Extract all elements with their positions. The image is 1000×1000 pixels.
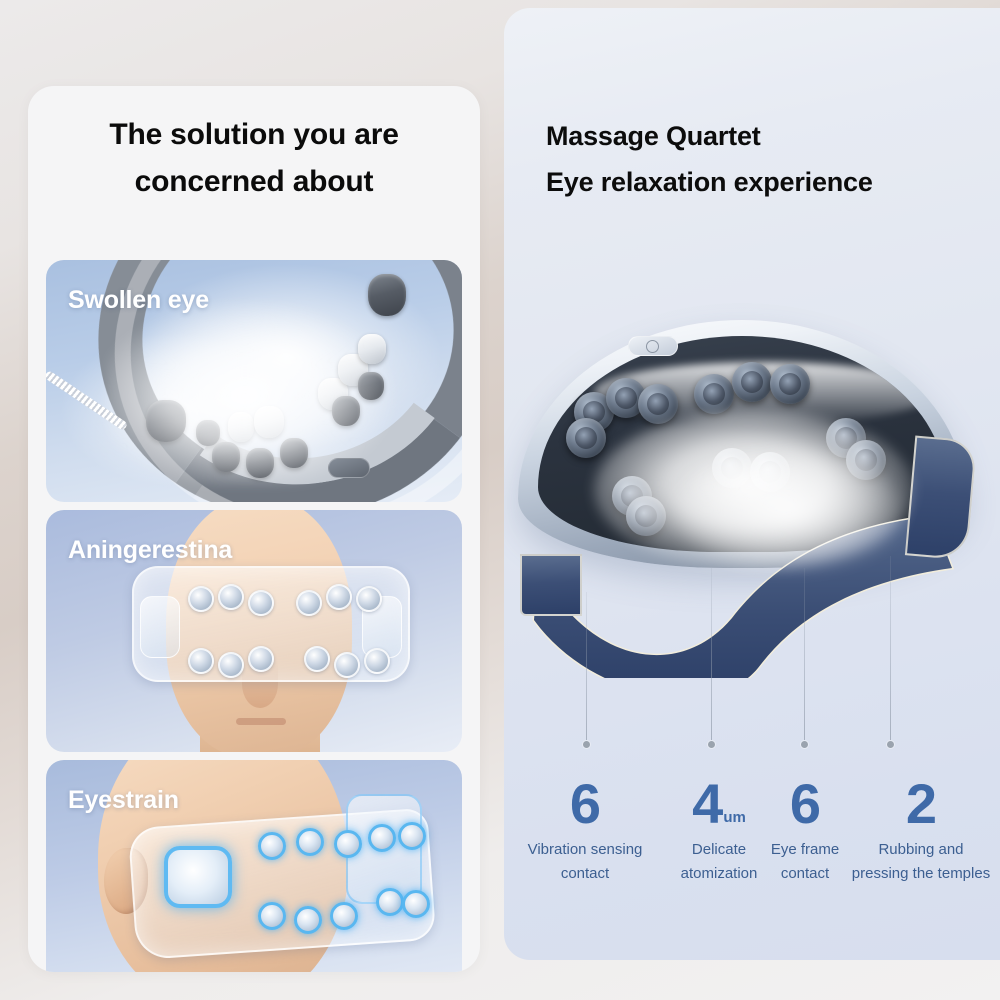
stat-caption: Rubbing and pressing the temples	[842, 838, 1000, 887]
massage-node	[402, 890, 430, 918]
stat-number: 6	[570, 778, 600, 830]
connector-dot-2	[707, 740, 716, 749]
head-strap-left	[520, 554, 582, 616]
left-heading-line-1: The solution you are	[28, 112, 480, 159]
card-aningerestina[interactable]: Aningerestina	[46, 510, 462, 752]
connector-line-4	[890, 556, 891, 742]
massage-node	[294, 906, 322, 934]
stat-caption-line-1: Delicate	[692, 841, 746, 858]
connector-dot-1	[582, 740, 591, 749]
massage-node	[694, 374, 734, 414]
stat-vibration-sensing-contact: 6 Vibration sensing contact	[504, 778, 666, 886]
stat-caption-line-2: pressing the temples	[842, 862, 1000, 886]
massage-node	[188, 586, 214, 612]
massage-node	[334, 830, 362, 858]
massage-node	[258, 902, 286, 930]
stat-rubbing-pressing-temples: 2 Rubbing and pressing the temples	[842, 778, 1000, 886]
massage-node	[334, 652, 360, 678]
steam-cloud-secondary	[674, 450, 904, 570]
left-heading-line-2: concerned about	[28, 159, 480, 206]
connector-dot-4	[886, 740, 895, 749]
massage-node	[218, 652, 244, 678]
right-panel: Massage Quartet Eye relaxation experienc…	[504, 8, 1000, 960]
stat-eye-frame-contact: 6 Eye frame contact	[756, 778, 854, 886]
left-panel-heading: The solution you are concerned about	[28, 112, 480, 205]
massage-node	[258, 832, 286, 860]
stat-number: 2	[906, 778, 936, 830]
stat-caption-line-1: Rubbing and	[878, 841, 963, 858]
massage-node	[296, 590, 322, 616]
right-heading-line-2: Eye relaxation experience	[546, 159, 873, 205]
stat-caption-line-2: contact	[756, 862, 854, 886]
massage-node	[398, 822, 426, 850]
device-control-button[interactable]	[328, 458, 370, 478]
card-eyestrain[interactable]: Eyestrain	[46, 760, 462, 972]
connector-line-1	[586, 592, 587, 742]
card-label-swollen-eye: Swollen eye	[68, 286, 209, 315]
right-heading-line-1: Massage Quartet	[546, 113, 873, 159]
card-label-aningerestina: Aningerestina	[68, 536, 232, 565]
hero-device-image	[504, 300, 1000, 720]
stat-caption: Vibration sensing contact	[504, 838, 666, 887]
massage-node	[248, 646, 274, 672]
goggle-side-pad-left	[140, 596, 180, 658]
stat-caption: Eye frame contact	[756, 838, 854, 887]
connector-line-3	[804, 568, 805, 742]
massage-node	[376, 888, 404, 916]
massage-node	[770, 364, 810, 404]
stat-number: 4	[692, 778, 722, 830]
head-strap-right	[905, 436, 977, 561]
feature-stats: 6 Vibration sensing contact 4um Delicate…	[504, 778, 1000, 918]
massage-node	[330, 902, 358, 930]
left-card-list: Swollen eye Aningerestina	[46, 260, 462, 972]
connector-line-2	[711, 568, 712, 742]
mouth	[236, 718, 286, 725]
massage-node	[218, 584, 244, 610]
right-panel-heading: Massage Quartet Eye relaxation experienc…	[546, 113, 873, 206]
massage-node	[364, 648, 390, 674]
stat-caption-line-1: Eye frame	[771, 841, 839, 858]
massage-node	[188, 648, 214, 674]
eye-contact-pad	[164, 846, 232, 908]
card-label-eyestrain: Eyestrain	[68, 786, 179, 815]
massage-node	[304, 646, 330, 672]
massage-node	[368, 824, 396, 852]
massage-node	[296, 828, 324, 856]
left-panel: The solution you are concerned about Swo…	[28, 86, 480, 972]
power-icon	[646, 340, 659, 353]
stat-caption-line-2: contact	[504, 862, 666, 886]
connector-dot-3	[800, 740, 809, 749]
stat-unit: um	[723, 809, 746, 830]
massage-node	[356, 586, 382, 612]
stat-caption-line-1: Vibration sensing	[528, 841, 643, 858]
card-swollen-eye[interactable]: Swollen eye	[46, 260, 462, 502]
massage-node	[326, 584, 352, 610]
massage-node	[638, 384, 678, 424]
massage-node	[248, 590, 274, 616]
stat-number: 6	[790, 778, 820, 830]
massage-node	[732, 362, 772, 402]
massage-node	[566, 418, 606, 458]
